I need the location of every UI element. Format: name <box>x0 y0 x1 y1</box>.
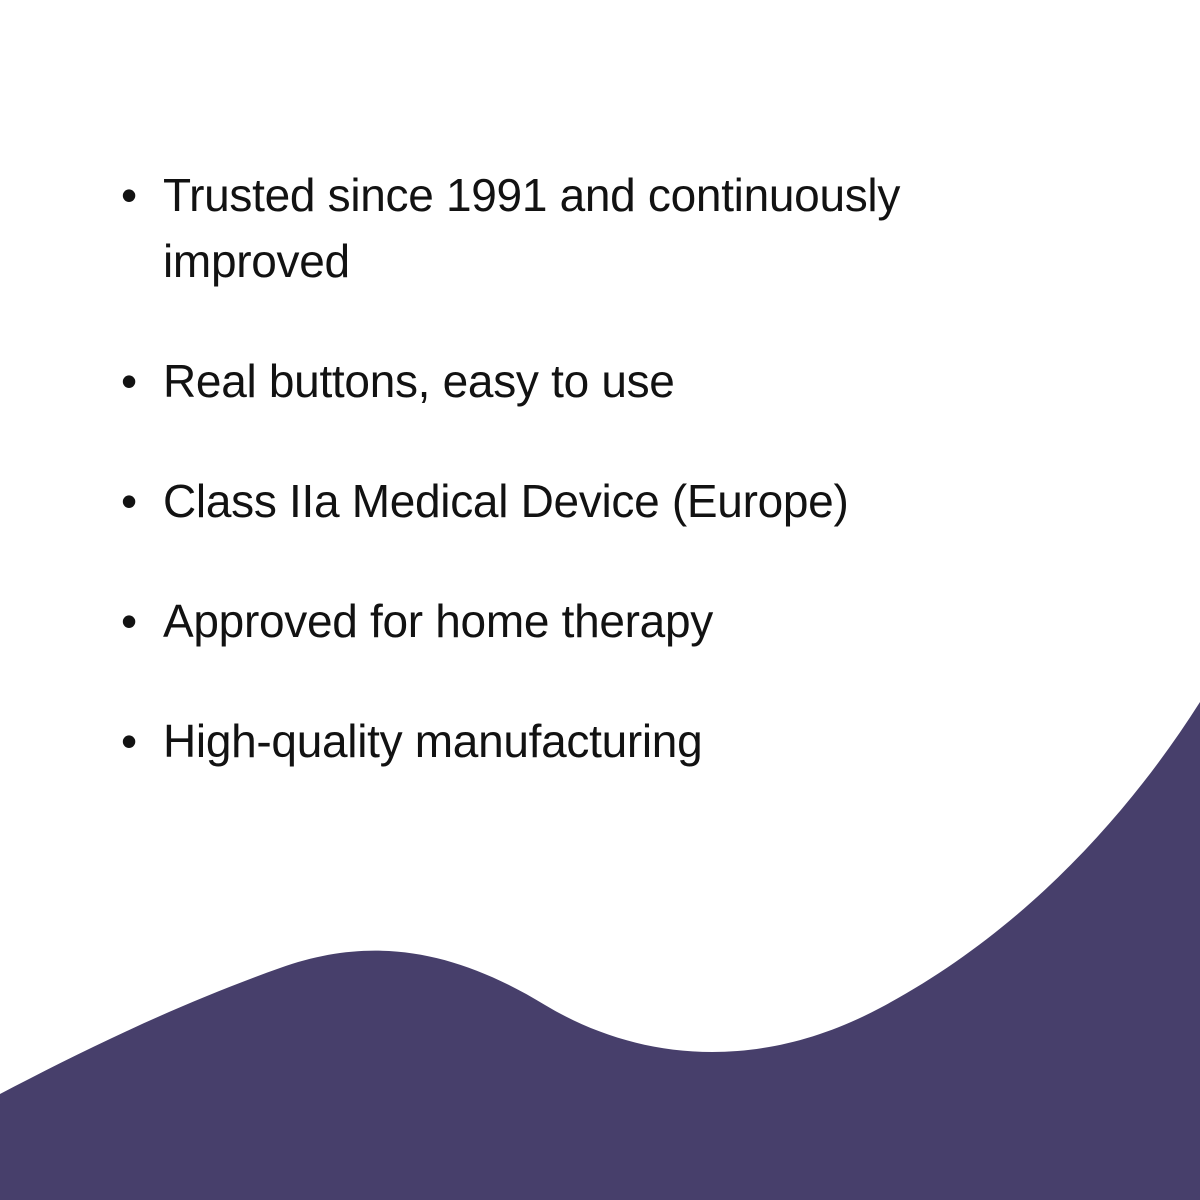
list-item: • Approved for home therapy <box>112 588 1072 654</box>
bullet-dot-icon: • <box>112 588 163 654</box>
bullet-text: Trusted since 1991 and continuously impr… <box>163 162 1043 294</box>
bullet-dot-icon: • <box>112 162 163 228</box>
list-item: • Trusted since 1991 and continuously im… <box>112 162 1072 294</box>
bullet-dot-icon: • <box>112 348 163 414</box>
list-item: • High-quality manufacturing <box>112 708 1072 774</box>
feature-bullet-list: • Trusted since 1991 and continuously im… <box>112 162 1072 774</box>
bullet-dot-icon: • <box>112 468 163 534</box>
list-item: • Real buttons, easy to use <box>112 348 1072 414</box>
wave-back-shape <box>950 820 1200 1200</box>
bullet-dot-icon: • <box>112 708 163 774</box>
slide-canvas: • Trusted since 1991 and continuously im… <box>0 0 1200 1200</box>
bullet-text: Real buttons, easy to use <box>163 348 1043 414</box>
list-item: • Class IIa Medical Device (Europe) <box>112 468 1072 534</box>
bullet-text: Approved for home therapy <box>163 588 1043 654</box>
bullet-text: High-quality manufacturing <box>163 708 1043 774</box>
wave-front-shape <box>0 702 1200 1200</box>
bullet-text: Class IIa Medical Device (Europe) <box>163 468 1043 534</box>
